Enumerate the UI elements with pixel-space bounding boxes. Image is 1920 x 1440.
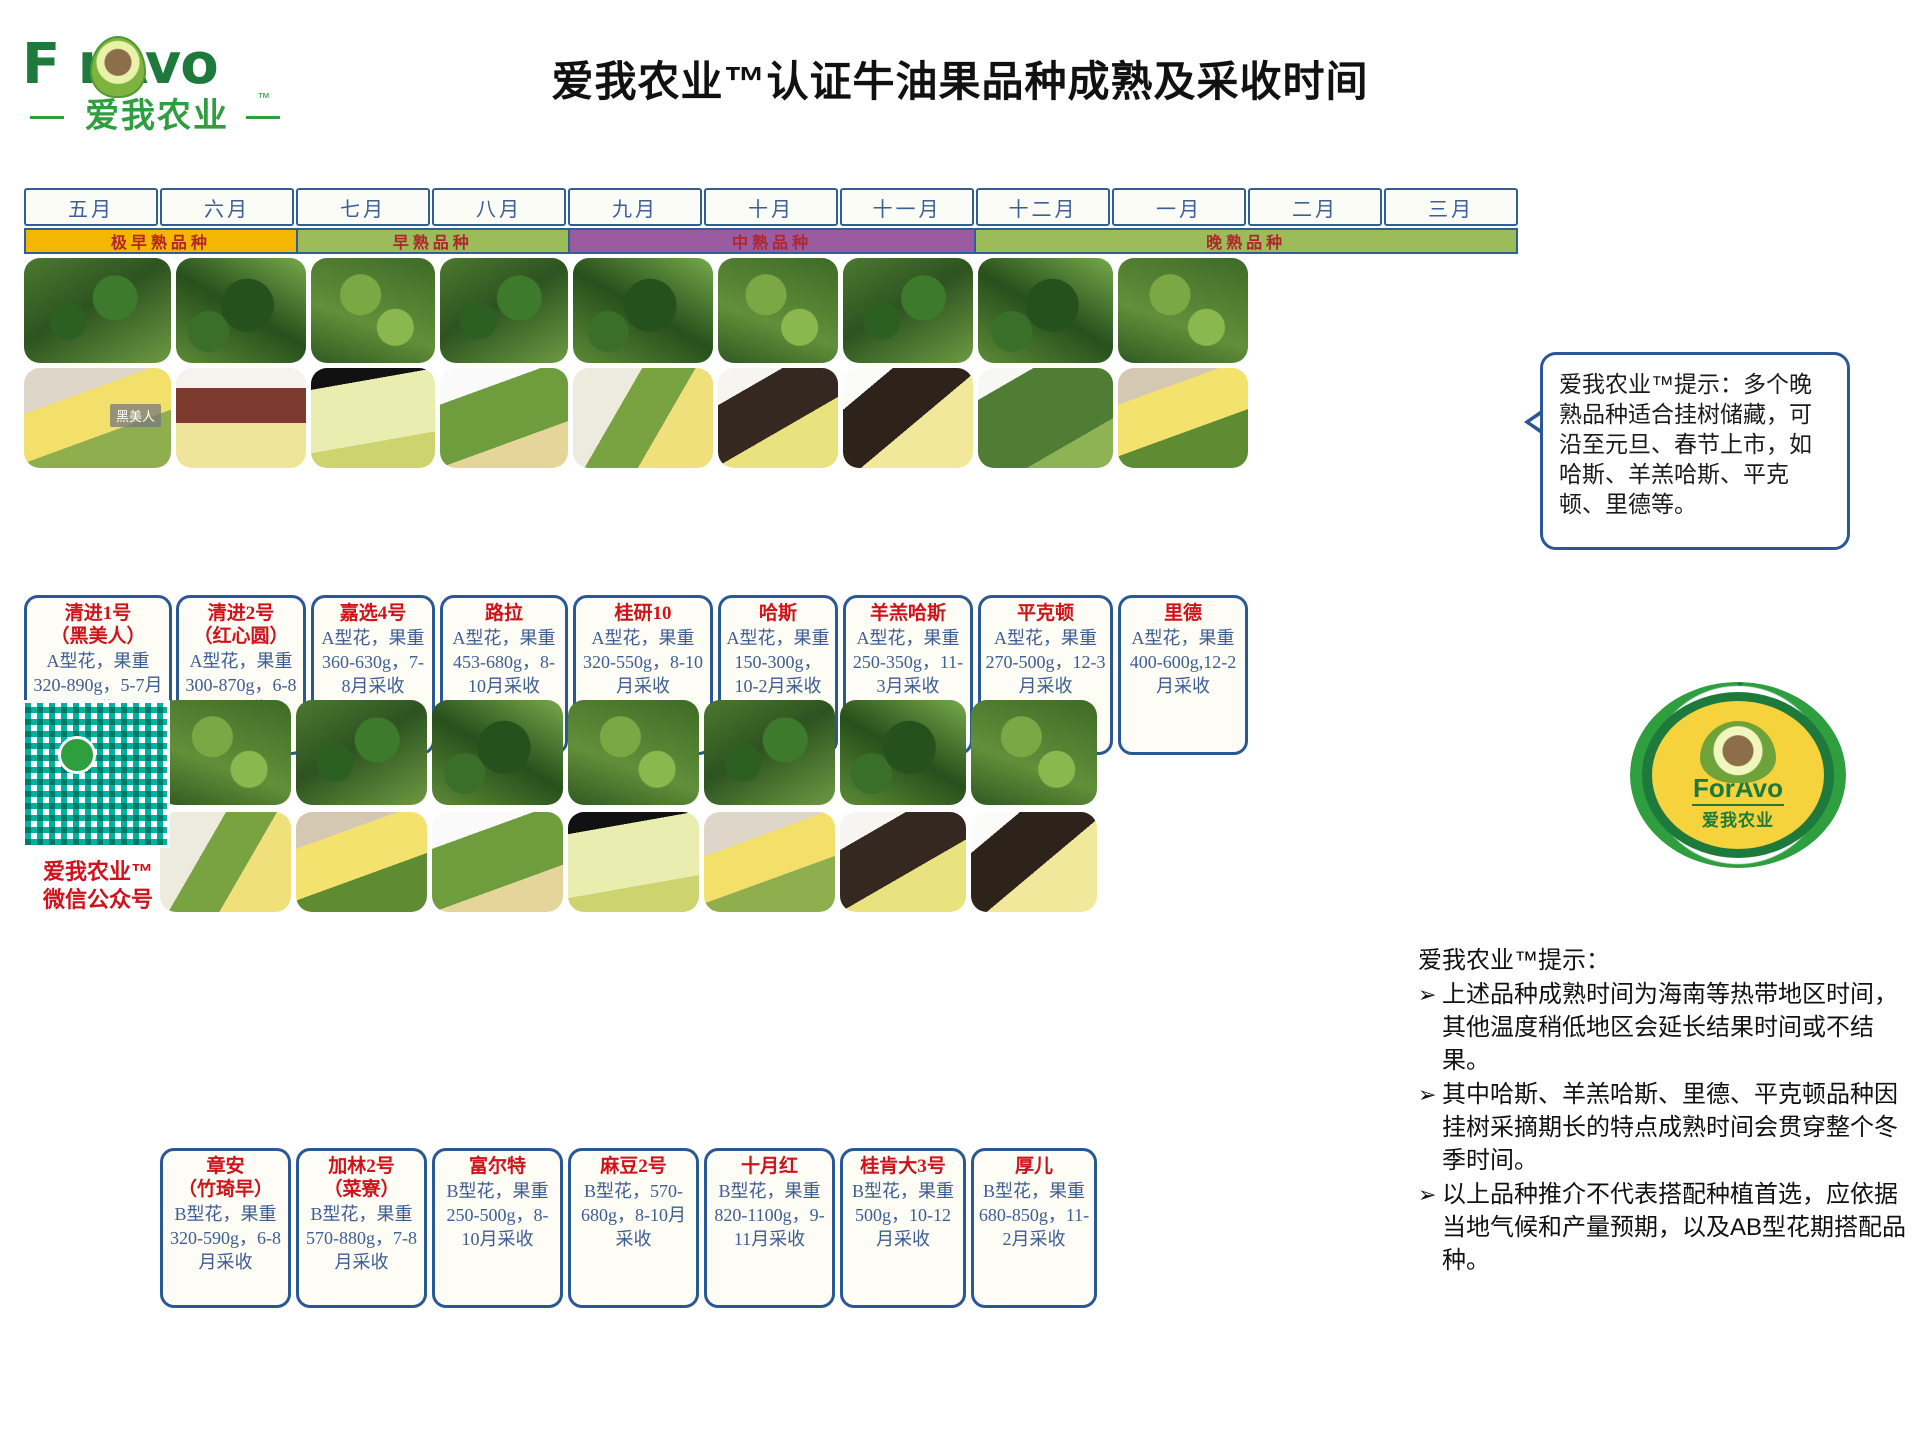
variety-b-card-title: 桂肯大3号 — [860, 1155, 946, 1178]
photo-fruit-b5 — [704, 812, 835, 912]
photo-fruit-a1: 黑美人 — [24, 368, 171, 468]
brand-logo: F rAvo 爱我农业 ™ — [22, 32, 280, 140]
variety-b-card-title: 富尔特 — [469, 1155, 526, 1178]
variety-b-card-subtitle: （竹琦早） — [178, 1178, 273, 1201]
variety-b-card-5[interactable]: 十月红B型花，果重820-1100g，9-11月采收 — [704, 1148, 835, 1308]
variety-a-card-title: 桂研10 — [614, 602, 671, 625]
photo-fruit-a2 — [176, 368, 306, 468]
variety-a-card-title: 清进1号 — [65, 602, 132, 625]
logo-chinese-name: 爱我农业 — [62, 94, 252, 138]
variety-b-card-2[interactable]: 加林2号（菜寮）B型花，果重570-880g，7-8月采收 — [296, 1148, 427, 1308]
photo-tree-b3 — [432, 700, 563, 805]
variety-a-card-title: 路拉 — [485, 602, 523, 625]
certification-seal: ForAvo 爱我农业 — [1630, 682, 1846, 868]
month-cell-6: 十月 — [704, 188, 838, 226]
arrow-bullet-icon: ➢ — [1418, 1178, 1442, 1211]
photo-fruit-b2 — [296, 812, 427, 912]
variety-b-card-title: 章安 — [206, 1155, 244, 1178]
season-band-4: 晚熟品种 — [976, 230, 1516, 252]
month-timeline: 五月六月七月八月九月十月十一月十二月一月二月三月 — [24, 188, 1518, 226]
footer-note-item: ➢上述品种成熟时间为海南等热带地区时间，其他温度稍低地区会延长结果时间或不结果。 — [1418, 978, 1918, 1077]
variety-b-card-details: B型花，果重250-500g，8-10月采收 — [439, 1179, 556, 1251]
variety-b-card-3[interactable]: 富尔特B型花，果重250-500g，8-10月采收 — [432, 1148, 563, 1308]
footer-notes-title: 爱我农业™提示： — [1418, 944, 1918, 977]
photo-fruit-a3 — [311, 368, 435, 468]
variety-a-card-title: 清进2号 — [208, 602, 275, 625]
tip-callout-box: 爱我农业™提示：多个晚熟品种适合挂树储藏，可沿至元旦、春节上市，如哈斯、羊羔哈斯… — [1540, 352, 1850, 550]
photo-tree-a1 — [24, 258, 171, 363]
logo-wordmark: F rAvo — [22, 32, 280, 98]
variety-b-card-title: 加林2号 — [328, 1155, 395, 1178]
photo-badge-label: 黑美人 — [110, 404, 161, 427]
variety-b-card-6[interactable]: 桂肯大3号B型花，果重500g，10-12月采收 — [840, 1148, 966, 1308]
variety-b-card-details: B型花，果重570-880g，7-8月采收 — [303, 1202, 420, 1274]
photo-fruit-a6 — [718, 368, 838, 468]
footer-note-text: 以上品种推介不代表搭配种植首选，应依据当地气候和产量预期，以及AB型花期搭配品种… — [1442, 1178, 1918, 1277]
photo-fruit-a4 — [440, 368, 568, 468]
arrow-bullet-icon: ➢ — [1418, 978, 1442, 1011]
photo-tree-a8 — [978, 258, 1113, 363]
month-cell-7: 十一月 — [840, 188, 974, 226]
variety-b-card-title: 十月红 — [741, 1155, 798, 1178]
month-cell-4: 八月 — [432, 188, 566, 226]
month-cell-1: 五月 — [24, 188, 158, 226]
photo-tree-b7 — [971, 700, 1097, 805]
variety-a-card-details: A型花，果重453-680g，8-10月采收 — [447, 626, 561, 698]
photo-fruit-a7 — [843, 368, 973, 468]
month-cell-10: 二月 — [1248, 188, 1382, 226]
photo-tree-a5 — [573, 258, 713, 363]
logo-divider-left — [30, 116, 64, 119]
footer-note-text: 其中哈斯、羊羔哈斯、里德、平克顿品种因挂树采摘期长的特点成熟时间会贯穿整个冬季时… — [1442, 1078, 1918, 1177]
variety-b-card-details: B型花，果重320-590g，6-8月采收 — [167, 1202, 284, 1274]
seal-inner-disc: ForAvo 爱我农业 — [1652, 701, 1824, 849]
variety-a-card-title: 哈斯 — [759, 602, 797, 625]
avocado-icon — [90, 36, 146, 98]
qr-logo-icon — [58, 736, 96, 774]
photo-fruit-a5 — [573, 368, 713, 468]
variety-a-card-title: 里德 — [1164, 602, 1202, 625]
photo-tree-b4 — [568, 700, 699, 805]
month-cell-8: 十二月 — [976, 188, 1110, 226]
variety-a-card-9[interactable]: 里德A型花，果重400-600g,12-2月采收 — [1118, 595, 1248, 755]
variety-b-card-details: B型花，果重500g，10-12月采收 — [847, 1179, 959, 1251]
photo-fruit-a9 — [1118, 368, 1248, 468]
photo-fruit-a8 — [978, 368, 1113, 468]
photo-tree-b5 — [704, 700, 835, 805]
photo-tree-a9 — [1118, 258, 1248, 363]
qr-caption-line1: 爱我农业™ — [14, 858, 182, 886]
variety-a-card-subtitle: （黑美人） — [50, 625, 145, 648]
variety-a-card-title: 平克顿 — [1017, 602, 1074, 625]
qr-code[interactable] — [22, 700, 170, 848]
variety-a-card-details: A型花，果重400-600g,12-2月采收 — [1125, 626, 1241, 698]
month-cell-11: 三月 — [1384, 188, 1518, 226]
season-band-2: 早熟品种 — [298, 230, 570, 252]
photo-tree-a3 — [311, 258, 435, 363]
variety-b-card-details: B型花，果重680-850g，11-2月采收 — [978, 1179, 1090, 1251]
variety-a-card-details: A型花，果重320-550g，8-10月采收 — [580, 626, 706, 698]
photo-fruit-b6 — [840, 812, 966, 912]
variety-a-card-details: A型花，果重250-350g，11-3月采收 — [850, 626, 966, 698]
photo-tree-b6 — [840, 700, 966, 805]
photo-tree-b2 — [296, 700, 427, 805]
variety-b-card-4[interactable]: 麻豆2号B型花，570-680g，8-10月采收 — [568, 1148, 699, 1308]
footer-note-text: 上述品种成熟时间为海南等热带地区时间，其他温度稍低地区会延长结果时间或不结果。 — [1442, 978, 1918, 1077]
variety-b-card-details: B型花，果重820-1100g，9-11月采收 — [711, 1179, 828, 1251]
page-header: F rAvo 爱我农业 ™ 爱我农业™认证牛油果品种成熟及采收时间 — [0, 0, 1920, 160]
season-band-1: 极早熟品种 — [26, 230, 298, 252]
logo-trademark-icon: ™ — [257, 90, 270, 105]
variety-a-card-subtitle: （红心圆） — [193, 625, 288, 648]
month-cell-3: 七月 — [296, 188, 430, 226]
photo-fruit-b3 — [432, 812, 563, 912]
variety-b-card-details: B型花，570-680g，8-10月采收 — [575, 1179, 692, 1251]
photo-tree-b1 — [160, 700, 291, 805]
variety-a-card-details: A型花，果重150-300g，10-2月采收 — [725, 626, 831, 698]
month-cell-9: 一月 — [1112, 188, 1246, 226]
footer-notes: 爱我农业™提示： ➢上述品种成熟时间为海南等热带地区时间，其他温度稍低地区会延长… — [1418, 944, 1918, 1277]
month-cell-2: 六月 — [160, 188, 294, 226]
variety-a-card-title: 羊羔哈斯 — [870, 602, 946, 625]
arrow-bullet-icon: ➢ — [1418, 1078, 1442, 1111]
variety-b-card-1[interactable]: 章安（竹琦早）B型花，果重320-590g，6-8月采收 — [160, 1148, 291, 1308]
qr-caption-line2: 微信公众号 — [14, 886, 182, 914]
photo-tree-a6 — [718, 258, 838, 363]
footer-note-item: ➢以上品种推介不代表搭配种植首选，应依据当地气候和产量预期，以及AB型花期搭配品… — [1418, 1178, 1918, 1277]
variety-a-card-details: A型花，果重270-500g，12-3月采收 — [985, 626, 1106, 698]
seal-brand-cn: 爱我农业 — [1702, 806, 1774, 831]
season-band: 极早熟品种早熟品种中熟品种晚熟品种 — [24, 228, 1518, 254]
photo-tree-a7 — [843, 258, 973, 363]
seal-avocado-icon — [1700, 721, 1776, 783]
photo-tree-a2 — [176, 258, 306, 363]
variety-b-card-subtitle: （菜寮） — [323, 1178, 399, 1201]
page-title: 爱我农业™认证牛油果品种成熟及采收时间 — [380, 48, 1540, 109]
variety-b-card-title: 麻豆2号 — [600, 1155, 667, 1178]
variety-a-card-details: A型花，果重360-630g，7-8月采收 — [318, 626, 428, 698]
variety-b-card-title: 厚儿 — [1015, 1155, 1053, 1178]
variety-b-card-7[interactable]: 厚儿B型花，果重680-850g，11-2月采收 — [971, 1148, 1097, 1308]
month-cell-5: 九月 — [568, 188, 702, 226]
variety-a-card-title: 嘉选4号 — [340, 602, 407, 625]
qr-caption: 爱我农业™ 微信公众号 — [14, 858, 182, 914]
photo-fruit-b4 — [568, 812, 699, 912]
photo-tree-a4 — [440, 258, 568, 363]
footer-note-item: ➢其中哈斯、羊羔哈斯、里德、平克顿品种因挂树采摘期长的特点成熟时间会贯穿整个冬季… — [1418, 1078, 1918, 1177]
season-band-3: 中熟品种 — [570, 230, 977, 252]
photo-fruit-b7 — [971, 812, 1097, 912]
